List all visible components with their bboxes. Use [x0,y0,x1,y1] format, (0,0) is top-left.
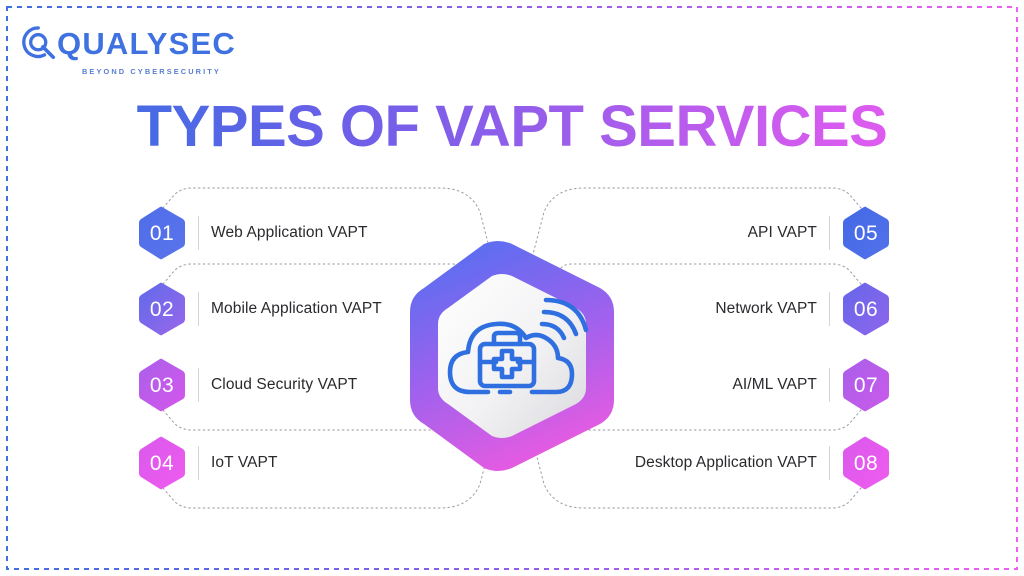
infographic-canvas: QUALYSEC BEYOND CYBERSECURITY TYPES OF V… [0,0,1024,576]
service-item-04[interactable]: 04 IoT VAPT [138,436,278,490]
service-label-05: API VAPT [748,223,817,243]
badge-number-08: 08 [854,453,878,474]
badge-hexagon-06: 06 [842,282,890,336]
service-item-08[interactable]: 08 Desktop Application VAPT [635,436,890,490]
badge-hexagon-02: 02 [138,282,186,336]
service-label-06: Network VAPT [715,299,817,319]
brand-name: QUALYSEC [57,28,236,59]
service-label-03: Cloud Security VAPT [211,375,357,395]
badge-number-04: 04 [150,453,174,474]
center-hexagon-emblem [392,240,632,472]
badge-number-06: 06 [854,299,878,320]
service-label-07: AI/ML VAPT [732,375,817,395]
badge-number-03: 03 [150,375,174,396]
brand-logo[interactable]: QUALYSEC BEYOND CYBERSECURITY [20,24,236,76]
page-title: TYPES OF VAPT SERVICES [0,98,1024,156]
badge-number-01: 01 [150,223,174,244]
item-divider [198,292,199,326]
service-label-08: Desktop Application VAPT [635,453,817,473]
service-item-06[interactable]: 06 Network VAPT [715,282,890,336]
badge-hexagon-08: 08 [842,436,890,490]
badge-number-02: 02 [150,299,174,320]
service-label-04: IoT VAPT [211,453,278,473]
badge-number-07: 07 [854,375,878,396]
item-divider [198,446,199,480]
item-divider [829,446,830,480]
badge-number-05: 05 [854,223,878,244]
item-divider [198,216,199,250]
magnifier-q-icon [20,24,58,62]
badge-hexagon-03: 03 [138,358,186,412]
logo-row: QUALYSEC [20,24,236,62]
service-label-01: Web Application VAPT [211,223,368,243]
service-item-01[interactable]: 01 Web Application VAPT [138,206,368,260]
service-item-07[interactable]: 07 AI/ML VAPT [732,358,890,412]
badge-hexagon-01: 01 [138,206,186,260]
item-divider [829,216,830,250]
service-label-02: Mobile Application VAPT [211,299,382,319]
brand-tagline: BEYOND CYBERSECURITY [82,67,236,76]
service-item-05[interactable]: 05 API VAPT [748,206,890,260]
item-divider [198,368,199,402]
service-item-03[interactable]: 03 Cloud Security VAPT [138,358,357,412]
service-item-02[interactable]: 02 Mobile Application VAPT [138,282,382,336]
badge-hexagon-04: 04 [138,436,186,490]
badge-hexagon-05: 05 [842,206,890,260]
item-divider [829,368,830,402]
badge-hexagon-07: 07 [842,358,890,412]
item-divider [829,292,830,326]
